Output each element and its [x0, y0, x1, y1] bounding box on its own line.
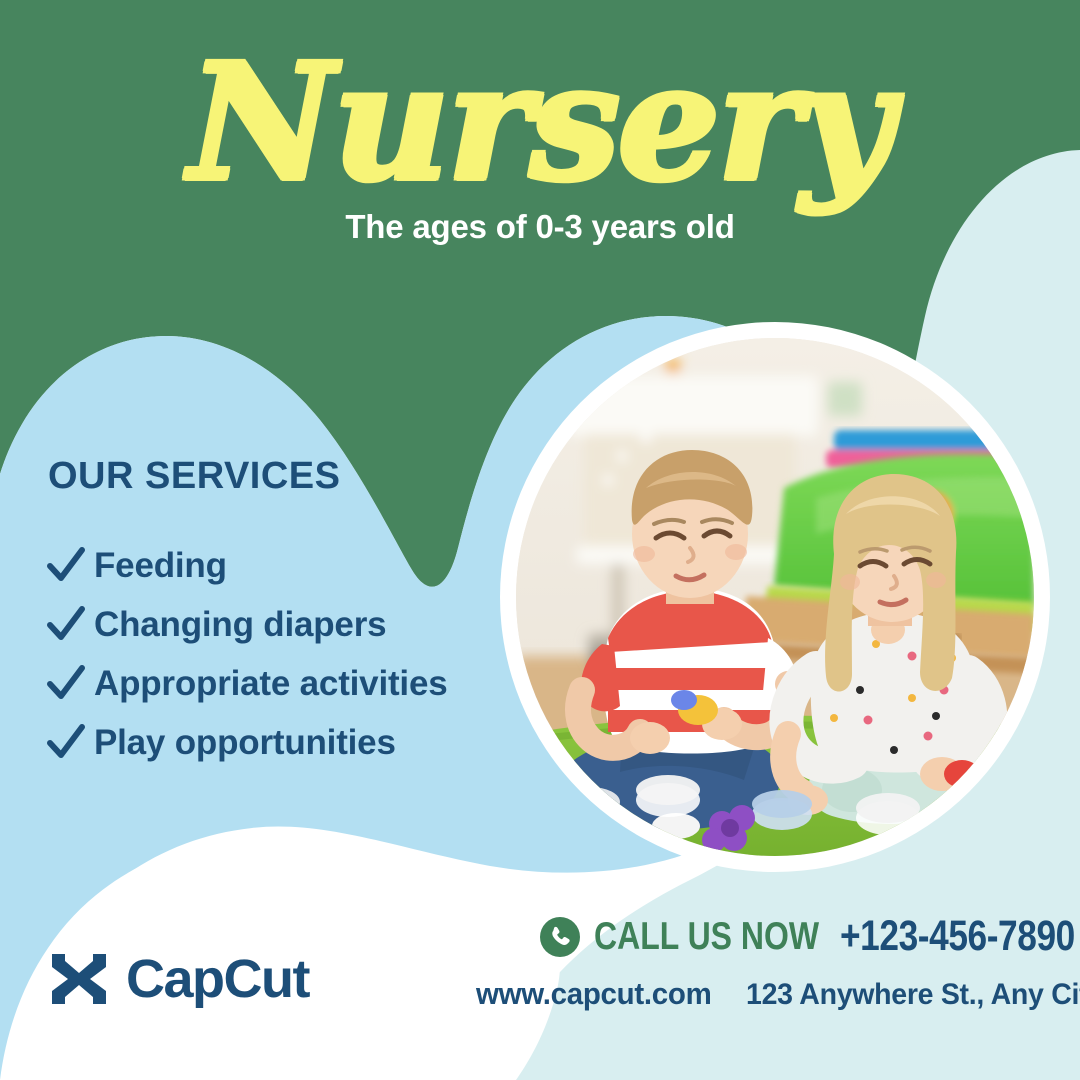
capcut-logo[interactable]: CapCut — [48, 952, 309, 1006]
services-list: Feeding Changing diapers Appropriate act… — [44, 536, 447, 772]
capcut-logo-icon — [48, 952, 110, 1006]
call-number[interactable]: +123-456-7890 — [840, 912, 1075, 961]
check-icon — [44, 546, 88, 586]
service-label: Play opportunities — [94, 725, 396, 760]
nursery-children-photo — [516, 338, 1034, 856]
check-icon — [44, 605, 88, 645]
check-icon — [44, 723, 88, 763]
page-title: Nursery — [0, 42, 1080, 202]
list-item: Feeding — [44, 536, 447, 595]
service-label: Changing diapers — [94, 607, 386, 642]
list-item: Appropriate activities — [44, 654, 447, 713]
phone-icon — [540, 917, 580, 957]
list-item: Play opportunities — [44, 713, 447, 772]
capcut-logo-text: CapCut — [126, 952, 309, 1006]
contact-row: www.capcut.com 123 Anywhere St., Any Cit… — [476, 976, 1080, 1012]
photo-illustration — [516, 338, 1034, 856]
street-address: 123 Anywhere St., Any City — [746, 978, 1080, 1012]
service-label: Feeding — [94, 548, 227, 583]
page-subtitle: The ages of 0-3 years old — [0, 208, 1080, 246]
call-us-row[interactable]: CALL US NOW +123-456-7890 — [540, 912, 1080, 961]
call-label: CALL US NOW — [594, 915, 819, 959]
service-label: Appropriate activities — [94, 666, 447, 701]
list-item: Changing diapers — [44, 595, 447, 654]
services-heading: OUR SERVICES — [48, 455, 340, 498]
website-link[interactable]: www.capcut.com — [476, 976, 711, 1012]
poster-canvas: Nursery The ages of 0-3 years old OUR SE… — [0, 0, 1080, 1080]
check-icon — [44, 664, 88, 704]
